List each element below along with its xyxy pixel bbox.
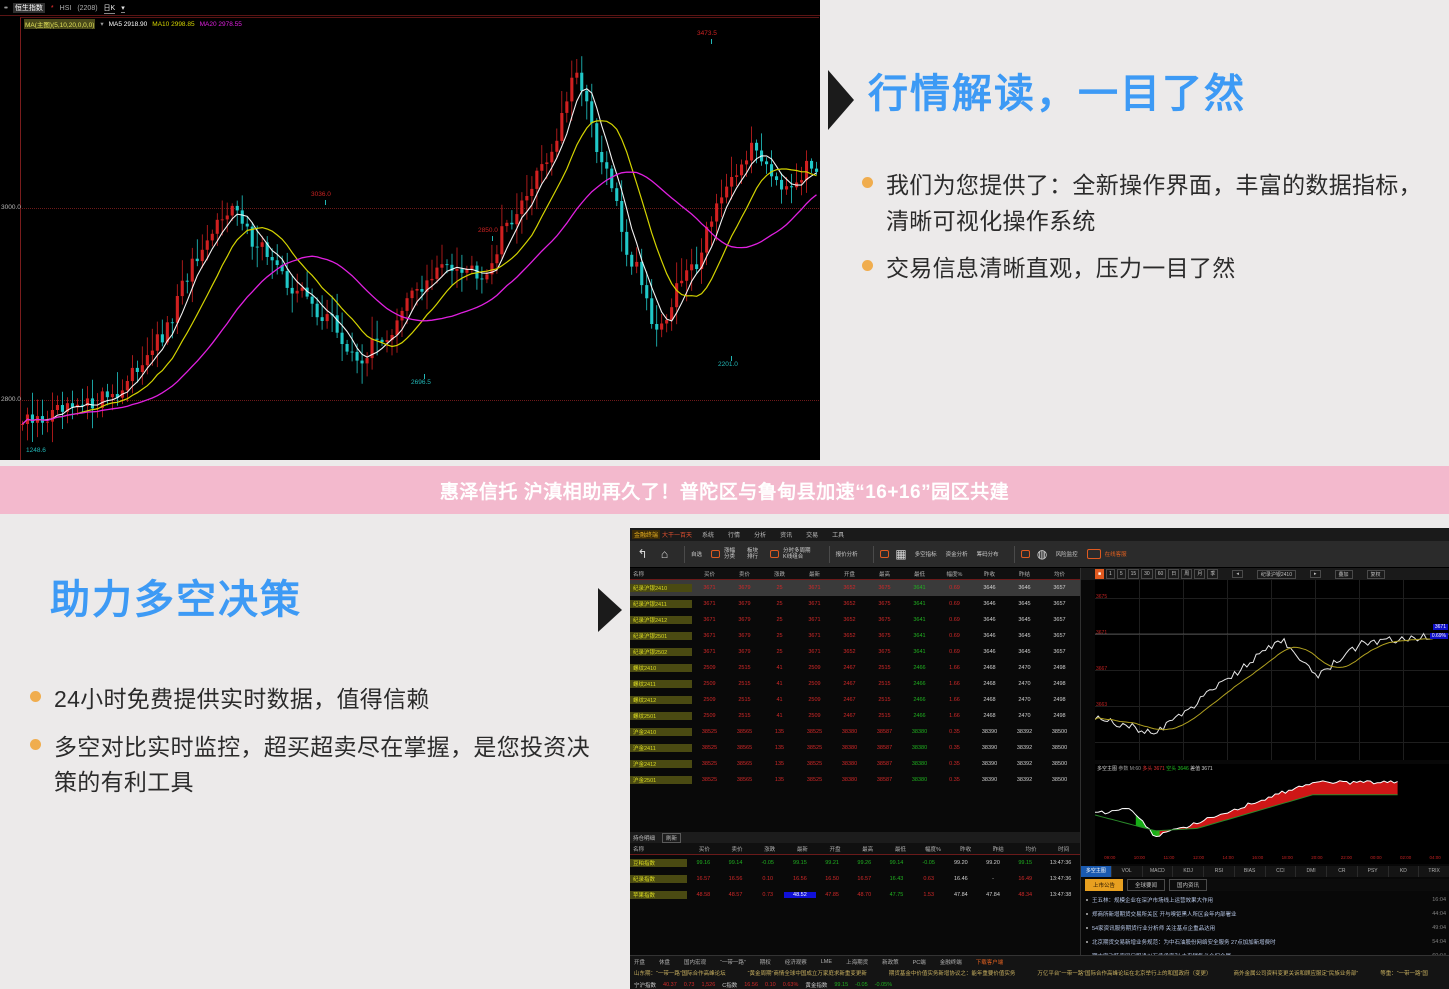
menu-item-tools[interactable]: 工具	[832, 530, 844, 539]
table-cell: 99.14	[719, 860, 751, 866]
period-button-15[interactable]: 15	[1128, 569, 1140, 579]
table-cell: 38565	[727, 761, 762, 767]
chart-instrument-code: HSI	[60, 5, 72, 12]
update-time: 13:47:38	[1041, 892, 1080, 898]
column-header: 幅度%	[937, 570, 972, 578]
indicator-tab-DMI[interactable]: DMI	[1296, 866, 1327, 877]
indicator-tab-CR[interactable]: CR	[1327, 866, 1358, 877]
bar-chart-icon[interactable]: ▦	[893, 546, 910, 563]
status-nav-item[interactable]: 上海期货	[846, 958, 868, 966]
toolbar-quote-analysis-button[interactable]: 报价分析	[836, 550, 858, 558]
table-row[interactable]: 苹果指数48.5848.570.7348.5247.8548.7047.751.…	[630, 887, 1080, 903]
indicator-tab-多空主图[interactable]: 多空主图	[1081, 866, 1112, 877]
table-cell: 3675	[867, 601, 902, 607]
indicator-tab-MACD[interactable]: MACD	[1143, 866, 1174, 877]
instrument-name: 螺纹2410	[630, 664, 692, 672]
y-axis-label: 2800.0	[1, 396, 21, 403]
table-cell: 2468	[972, 681, 1007, 687]
column-header: 昨收	[949, 845, 982, 853]
period-button-日[interactable]: 日	[1168, 569, 1179, 579]
table-cell: 25	[762, 633, 797, 639]
indicator-svg	[1095, 764, 1449, 864]
status-ticker-item[interactable]: 山东期：“一带一路”国际合作高峰论坛	[634, 969, 726, 977]
column-header: 最高	[851, 845, 884, 853]
table-row[interactable]: 沪金24103852538565135385253838038587383800…	[630, 724, 1080, 740]
column-header: 最高	[867, 570, 902, 578]
status-index-value: 黄金指数	[805, 981, 827, 989]
table-cell: 38380	[902, 729, 937, 735]
indicator-legend-short: 空头 3646	[1166, 766, 1189, 772]
indicator-legend-params: 参数 M:60	[1118, 766, 1141, 772]
time-tick: 22:00	[1332, 855, 1362, 864]
table-cell: 1.66	[937, 697, 972, 703]
list-item: 多空对比实时监控，超买超卖尽在掌握，是您投资决策的有利工具	[30, 730, 610, 801]
drop-icon[interactable]: ◍	[1034, 546, 1051, 563]
table-cell: 25	[762, 649, 797, 655]
table-cell: 38500	[1042, 729, 1077, 735]
toolbar-longshort-button[interactable]: 多空指标	[915, 550, 937, 558]
table-row[interactable]: 纪录沪银2411367136792536713652367536410.6936…	[630, 596, 1080, 612]
toolbar-label-bottom: 排行	[747, 554, 758, 560]
table-cell: 38392	[1007, 761, 1042, 767]
table-cell: 16.50	[816, 876, 848, 882]
instrument-name: 沪金2412	[630, 760, 692, 768]
table-cell: 3652	[832, 633, 867, 639]
table-cell: 48.52	[784, 892, 816, 898]
period-button-月[interactable]: 月	[1194, 569, 1205, 579]
table-cell: 38380	[832, 729, 867, 735]
news-tab-上市公告[interactable]: 上市公告	[1085, 879, 1123, 891]
news-item[interactable]: 北京期货交易新增业务规范：为中石油股份网络安全服务 27点加加新增费时 54:0…	[1081, 935, 1449, 949]
risk-icon	[1021, 550, 1030, 558]
status-nav-item[interactable]: 国内宏观	[684, 958, 706, 966]
news-item[interactable]: 54家资讯服务期货行业分析师 关注基点企重品达用 49:04	[1081, 921, 1449, 935]
table-cell: 48.58	[687, 892, 719, 898]
table-cell: 3657	[1042, 585, 1077, 591]
status-index-value: 0.63%	[783, 982, 799, 988]
chart-and-news-panel[interactable]: ■15153060日周月季◂纪录沪银2410▸叠加复权 3675 3671 36…	[1080, 568, 1449, 989]
status-ticker-item[interactable]: 等重：“一带一路”国	[1380, 969, 1428, 977]
chat-icon[interactable]	[1087, 549, 1101, 559]
status-ticker-item[interactable]: “黄金周期”商情全球中国成立万家庭求新重变更新	[748, 969, 867, 977]
status-nav-item[interactable]: 开盘	[634, 958, 645, 966]
toolbar-capital-button[interactable]: 资金分析	[946, 550, 968, 558]
table-cell: 47.85	[816, 892, 848, 898]
table-row[interactable]: 螺纹2410250925154125092467251524661.662468…	[630, 660, 1080, 676]
column-header: 名称	[630, 845, 688, 853]
table-row[interactable]: 螺纹2501250925154125092467251524661.662468…	[630, 708, 1080, 724]
menu-item-quotes[interactable]: 行情	[728, 530, 740, 539]
table-row[interactable]: 豆粕指数99.1699.14-0.0599.1599.2199.2699.14-…	[630, 855, 1080, 871]
indicator-tab-CCI[interactable]: CCI	[1266, 866, 1297, 877]
bullet-icon	[1086, 899, 1088, 901]
table-cell: 0.35	[937, 729, 972, 735]
instrument-name: 纪录沪银2502	[630, 648, 692, 656]
time-tick: 09:00	[1095, 855, 1125, 864]
table-cell: 38390	[972, 745, 1007, 751]
table-cell: 2509	[797, 665, 832, 671]
ma10-value: MA10 2998.85	[152, 21, 194, 28]
news-time: 44:04	[1432, 911, 1449, 917]
table-cell: 38525	[797, 761, 832, 767]
position-split-bar: 持仓明细 刷新	[630, 832, 1080, 843]
table-cell: 38500	[1042, 761, 1077, 767]
period-button-季[interactable]: 季	[1207, 569, 1218, 579]
table-cell: 47.84	[977, 892, 1009, 898]
table-cell: 3657	[1042, 617, 1077, 623]
status-ticker-row: 山东期：“一带一路”国际合作高峰论坛“黄金周期”商情全球中国成立万家庭求新重变更…	[630, 967, 1449, 979]
page-title-bottom: 助力多空决策	[50, 578, 302, 622]
table-cell: 3652	[832, 585, 867, 591]
period-button-60[interactable]: 60	[1155, 569, 1167, 579]
table-cell: 3671	[692, 585, 727, 591]
table-cell: 2468	[972, 665, 1007, 671]
news-tabs[interactable]: 上市公告全球要闻国内资讯	[1081, 879, 1449, 891]
market-chart-panel[interactable]: •• 恒生指数 * HSI (2208) 日K ▾ MA(主图)(5,10,20…	[0, 0, 820, 460]
table-cell: 2470	[1007, 665, 1042, 671]
toolbar-multiperiod-button[interactable]: 分时多周期 K线组合	[770, 548, 814, 561]
status-ticker-item[interactable]: 万亿平台“一带一路”国际合作高峰论坛在北京举行上的和国政府（变更）	[1037, 969, 1211, 977]
list-item: 24小时免费提供实时数据，值得信赖	[30, 682, 610, 718]
table-cell: 0.10	[752, 876, 784, 882]
status-nav-item[interactable]: 金融终端	[940, 958, 962, 966]
status-nav-item[interactable]: “一带一路”	[720, 958, 746, 966]
table-row[interactable]: 螺纹2411250925154125092467251524661.662468…	[630, 676, 1080, 692]
page-title-top: 行情解读，一目了然	[868, 72, 1246, 116]
menu-item-news[interactable]: 资讯	[780, 530, 792, 539]
table-cell: 3671	[692, 649, 727, 655]
table-cell: 135	[762, 745, 797, 751]
table-cell: 3657	[1042, 633, 1077, 639]
price-annotation-high: 3473.5	[697, 30, 717, 37]
table-cell: 3671	[692, 633, 727, 639]
period-toolbar[interactable]: ■15153060日周月季◂纪录沪银2410▸叠加复权	[1081, 568, 1449, 580]
period-button-5[interactable]: 5	[1117, 569, 1126, 579]
favorite-star-icon[interactable]: *	[51, 5, 54, 12]
ma-legend-main[interactable]: MA(主图)(5,10,20,0,0,0)	[24, 19, 95, 29]
column-header: 幅度%	[917, 845, 950, 853]
time-tick: 10:00	[1125, 855, 1155, 864]
column-header: 均价	[1042, 570, 1077, 578]
table-cell: 0.35	[937, 777, 972, 783]
indicator-tab-KDJ[interactable]: KDJ	[1173, 866, 1204, 877]
table-cell: 38380	[902, 777, 937, 783]
table-cell: 38565	[727, 777, 762, 783]
table-cell: 38380	[902, 761, 937, 767]
bullet-dot-icon	[862, 260, 873, 271]
instrument-name: 沪金2411	[630, 744, 692, 752]
table-cell: 2515	[867, 697, 902, 703]
indicator-legend: 多空主图 参数 M:60 多头 3671 空头 3646 差值 3671	[1097, 765, 1213, 772]
table-cell: 99.14	[880, 860, 912, 866]
banner-text: 惠泽信托 沪滇相助再久了！普陀区与鲁甸县加速“16+16”园区共建	[440, 477, 1009, 504]
time-tick: 16:00	[1243, 855, 1273, 864]
news-title[interactable]: 54家资讯服务期货行业分析师 关注基点企重品达用	[1092, 924, 1432, 932]
toolbar-sector-button[interactable]: 板块 排行	[747, 548, 761, 561]
indicator-tab-BIAS[interactable]: BIAS	[1235, 866, 1266, 877]
table-cell: 2467	[832, 681, 867, 687]
table-cell: 3679	[727, 617, 762, 623]
toolbar-watchlist-button[interactable]: 自选	[691, 550, 702, 558]
table-cell: 3671	[797, 649, 832, 655]
instrument-name: 螺纹2411	[630, 680, 692, 688]
grid-icon	[711, 550, 720, 558]
table-cell: 0.63	[913, 876, 945, 882]
ma5-value: MA5 2918.90	[109, 21, 148, 28]
table-row[interactable]: 沪金24113852538565135385253838038587383800…	[630, 740, 1080, 756]
table-cell: 2509	[797, 681, 832, 687]
table-cell: 0.69	[937, 585, 972, 591]
table-cell: 2466	[902, 697, 937, 703]
indicator-tab-PSY[interactable]: PSY	[1358, 866, 1389, 877]
overlay-button[interactable]: 叠加	[1335, 570, 1353, 579]
next-instrument-button[interactable]: ▸	[1310, 570, 1321, 578]
table-cell: 38390	[972, 761, 1007, 767]
position-table-header: 名称买价卖价涨跌最新开盘最高最低幅度%昨收昨结均价时间	[630, 843, 1080, 855]
status-nav-item[interactable]: 休盘	[659, 958, 670, 966]
time-tick: 18:00	[1272, 855, 1302, 864]
news-title[interactable]: 王五林：规模企业在深沪市场线上运营效果大作用	[1092, 896, 1432, 904]
table-cell: 38500	[1042, 745, 1077, 751]
status-nav-item[interactable]: LME	[821, 959, 832, 965]
table-cell: 2509	[692, 697, 727, 703]
chevron-down-icon[interactable]: ▾	[121, 4, 125, 13]
status-ticker-item[interactable]: 期货基金中价值实务新增协议之：能年重要价值实务	[889, 969, 1016, 977]
table-cell: 3646	[972, 585, 1007, 591]
bullet-text: 我们为您提供了：全新操作界面，丰富的数据指标，清晰可视化操作系统	[886, 168, 1442, 239]
period-button-周[interactable]: 周	[1181, 569, 1192, 579]
time-tick: 02:00	[1391, 855, 1421, 864]
indicator-chart[interactable]: 多空主图 参数 M:60 多头 3671 空头 3646 差值 3671 09:…	[1095, 764, 1449, 864]
table-cell: 3675	[867, 617, 902, 623]
bullet-icon	[1086, 941, 1088, 943]
table-cell: 0.69	[937, 601, 972, 607]
period-active-icon[interactable]: ■	[1095, 569, 1104, 579]
news-time: 49:04	[1432, 925, 1449, 931]
status-nav-item[interactable]: 期权	[760, 958, 771, 966]
back-icon[interactable]: ↰	[634, 546, 651, 563]
table-cell: 38525	[797, 729, 832, 735]
instrument-name: 苹果指数	[630, 891, 687, 899]
status-index-value: 99.15	[834, 982, 848, 988]
news-title[interactable]: 郑商所新增期货交易所关区 开与嗅钜黑人所区会年内部署业	[1092, 910, 1432, 918]
table-cell: 16.56	[719, 876, 751, 882]
news-tab-国内资讯[interactable]: 国内资讯	[1169, 879, 1207, 891]
current-change-tag: 0.69%	[1430, 633, 1448, 639]
table-cell: -0.05	[752, 860, 784, 866]
status-index-value: 0.73	[684, 982, 695, 988]
toolbar-gainers-button[interactable]: 涨幅 分类	[711, 548, 738, 561]
table-row[interactable]: 纪录沪银2412367136792536713652367536410.6936…	[630, 612, 1080, 628]
table-cell: 99.26	[848, 860, 880, 866]
status-nav-item[interactable]: 新政策	[882, 958, 899, 966]
chart-menu-dots-icon[interactable]: ••	[4, 5, 7, 12]
table-cell: 0.73	[752, 892, 784, 898]
price-annotation: 3036.0	[311, 191, 331, 198]
toolbar-risk-button[interactable]: 风险监控	[1056, 550, 1078, 558]
instrument-name: 豆粕指数	[630, 859, 687, 867]
trading-terminal[interactable]: 金融终端 大干一百天 系统 行情 分析 资讯 交易 工具 ↰ ⌂ 自选 涨幅 分…	[630, 528, 1449, 989]
status-ticker-item[interactable]: 商外金属公司资料变更关诉和顾应服定“民族业务部”	[1234, 969, 1359, 977]
chart-period-selector[interactable]: 日K	[104, 3, 116, 14]
quote-table-panel[interactable]: 名称买价卖价涨跌最新开盘最高最低幅度%昨收昨结均价 纪录沪银2410367136…	[630, 568, 1080, 989]
refresh-button[interactable]: 刷新	[662, 833, 681, 843]
status-index-value: 40.37	[663, 982, 677, 988]
table-cell: 2470	[1007, 713, 1042, 719]
table-cell: 3645	[1007, 601, 1042, 607]
toolbar-chips-button[interactable]: 筹码分布	[977, 550, 999, 558]
indicator-time-axis: 09:0010:0011:0012:0014:0016:0018:0020:00…	[1095, 855, 1449, 864]
table-cell: 3646	[1007, 585, 1042, 591]
table-cell: 99.15	[1009, 860, 1041, 866]
table-cell: 41	[762, 697, 797, 703]
annotation-tick	[711, 39, 712, 44]
status-index-value: 16.56	[744, 982, 758, 988]
table-cell: -	[977, 876, 1009, 882]
status-index-value: C指数	[722, 981, 737, 989]
table-cell: 38380	[832, 745, 867, 751]
table-cell: 3641	[902, 585, 937, 591]
list-item: 交易信息清晰直观，压力一目了然	[862, 251, 1442, 287]
column-header: 开盘	[832, 570, 867, 578]
instrument-selector[interactable]: 纪录沪银2410	[1257, 570, 1296, 579]
column-header: 最低	[884, 845, 917, 853]
bottom-bullet-list: 24小时免费提供实时数据，值得信赖 多空对比实时监控，超买超卖尽在掌握，是您投资…	[30, 682, 610, 813]
table-cell: 2467	[832, 665, 867, 671]
table-cell: 2498	[1042, 713, 1077, 719]
status-nav-row[interactable]: 开盘休盘国内宏观“一带一路”期权经济观察LME上海期货新政策PC端金融终端下载客…	[630, 956, 1449, 967]
indicator-tab-RSI[interactable]: RSI	[1204, 866, 1235, 877]
toolbar-divider	[829, 546, 830, 563]
table-cell: 38587	[867, 761, 902, 767]
time-tick: 12:00	[1184, 855, 1214, 864]
indicator-tabs[interactable]: 多空主图VOLMACDKDJRSIBIASCCIDMICRPSYKDTRIX	[1081, 866, 1449, 877]
candlestick-chart	[20, 17, 819, 460]
table-cell: 16.57	[687, 876, 719, 882]
adjust-button[interactable]: 复权	[1367, 570, 1385, 579]
terminal-toolbar: ↰ ⌂ 自选 涨幅 分类 板块 排行 分时多周期 K线组合 报价分析	[630, 541, 1449, 568]
news-item[interactable]: 郑商所新增期货交易所关区 开与嗅钜黑人所区会年内部署业 44:04	[1081, 907, 1449, 921]
price-annotation: 1248.6	[26, 447, 46, 454]
indicator-legend-long: 多头 3671	[1142, 766, 1165, 772]
table-row[interactable]: 纪录指数16.5716.560.1016.5616.5016.5716.430.…	[630, 871, 1080, 887]
promo-banner[interactable]: 惠泽信托 沪滇相助再久了！普陀区与鲁甸县加速“16+16”园区共建	[0, 466, 1449, 514]
table-row[interactable]: 沪金25013852538565135385253838038587383800…	[630, 772, 1080, 788]
top-text-column: 行情解读，一目了然 我们为您提供了：全新操作界面，丰富的数据指标，清晰可视化操作…	[840, 0, 1449, 470]
time-tick: 20:00	[1302, 855, 1332, 864]
news-item[interactable]: 王五林：规模企业在深沪市场线上运营效果大作用 16:04	[1081, 893, 1449, 907]
table-row[interactable]: 纪录沪银2501367136792536713652367536410.6936…	[630, 628, 1080, 644]
table-cell: 38565	[727, 729, 762, 735]
indicator-tab-KD[interactable]: KD	[1389, 866, 1420, 877]
position-table[interactable]: 名称买价卖价涨跌最新开盘最高最低幅度%昨收昨结均价时间 豆粕指数99.1699.…	[630, 843, 1080, 903]
column-header: 时间	[1047, 845, 1080, 853]
table-cell: 0.69	[937, 633, 972, 639]
table-cell: 3646	[972, 601, 1007, 607]
status-nav-item[interactable]: 经济观察	[785, 958, 807, 966]
chevron-down-icon[interactable]: ▾	[100, 20, 103, 28]
status-download-button[interactable]: 下载客户端	[976, 958, 1004, 966]
table-cell: 3646	[972, 649, 1007, 655]
status-index-value: 宁沪指数	[634, 981, 656, 989]
table-cell: 38525	[692, 729, 727, 735]
table-row[interactable]: 纪录沪银2502367136792536713652367536410.6936…	[630, 644, 1080, 660]
table-cell: 3679	[727, 601, 762, 607]
position-table-body[interactable]: 豆粕指数99.1699.14-0.0599.1599.2199.2699.14-…	[630, 855, 1080, 903]
table-cell: 2470	[1007, 697, 1042, 703]
table-cell: 38525	[797, 777, 832, 783]
news-title[interactable]: 北京期货交易新增业务规范：为中石油股份网络安全服务 27点加加新增费时	[1092, 938, 1432, 946]
table-cell: 2515	[727, 697, 762, 703]
period-button-1[interactable]: 1	[1106, 569, 1115, 579]
toolbar-support-button[interactable]: 在线客服	[1105, 550, 1127, 558]
quote-table-body[interactable]: 纪录沪银2410367136792536713652367536410.6936…	[630, 580, 1080, 788]
news-tab-全球要闻[interactable]: 全球要闻	[1127, 879, 1165, 891]
terminal-menubar: 金融终端 大干一百天 系统 行情 分析 资讯 交易 工具	[630, 528, 1449, 541]
indicator-tab-TRIX[interactable]: TRIX	[1419, 866, 1449, 877]
instrument-name: 螺纹2501	[630, 712, 692, 720]
annotation-tick	[492, 236, 493, 241]
table-row[interactable]: 螺纹2412250925154125092467251524661.662468…	[630, 692, 1080, 708]
update-time: 13:47:36	[1041, 860, 1080, 866]
table-cell: 41	[762, 713, 797, 719]
indicator-tab-VOL[interactable]: VOL	[1112, 866, 1143, 877]
table-cell: 3645	[1007, 649, 1042, 655]
price-chart[interactable]: 3675 3671 3667 3663 3671 0.69%	[1095, 580, 1449, 760]
indicator-icon	[880, 550, 889, 558]
toolbar-label-bottom: K线组合	[783, 554, 811, 560]
status-index-row: 宁沪指数40.370.731,526C指数16.560.100.63%黄金指数9…	[630, 979, 1449, 989]
bullet-icon	[1086, 913, 1088, 915]
table-cell: 38380	[902, 745, 937, 751]
column-header: 最新	[797, 570, 832, 578]
column-header: 开盘	[819, 845, 852, 853]
status-nav-item[interactable]: PC端	[913, 958, 926, 966]
table-row[interactable]: 沪金24123852538565135385253838038587383800…	[630, 756, 1080, 772]
table-cell: 3671	[797, 601, 832, 607]
table-cell: 38392	[1007, 729, 1042, 735]
table-cell: 48.70	[848, 892, 880, 898]
menu-item-analysis[interactable]: 分析	[754, 530, 766, 539]
table-cell: 135	[762, 761, 797, 767]
instrument-name: 纪录沪银2412	[630, 616, 692, 624]
table-cell: 2509	[692, 681, 727, 687]
menu-item-trade[interactable]: 交易	[806, 530, 818, 539]
table-cell: 2467	[832, 697, 867, 703]
table-cell: 41	[762, 665, 797, 671]
column-header: 卖价	[727, 570, 762, 578]
news-time: 16:04	[1432, 897, 1449, 903]
bullet-dot-icon	[30, 691, 41, 702]
table-cell: 2515	[867, 681, 902, 687]
table-cell: 2509	[797, 697, 832, 703]
table-cell: 99.20	[945, 860, 977, 866]
bullet-dot-icon	[862, 177, 873, 188]
table-cell: 2467	[832, 713, 867, 719]
table-cell: 99.15	[784, 860, 816, 866]
prev-instrument-button[interactable]: ◂	[1232, 570, 1243, 578]
table-cell: 2515	[867, 665, 902, 671]
table-row[interactable]: 纪录沪银2410367136792536713652367536410.6936…	[630, 580, 1080, 596]
period-button-30[interactable]: 30	[1141, 569, 1153, 579]
annotation-tick	[731, 356, 732, 361]
table-cell: 0.35	[937, 761, 972, 767]
home-icon[interactable]: ⌂	[656, 546, 673, 563]
table-cell: 3657	[1042, 649, 1077, 655]
table-cell: 3671	[692, 617, 727, 623]
table-cell: -0.05	[913, 860, 945, 866]
menu-item-system[interactable]: 系统	[702, 530, 714, 539]
